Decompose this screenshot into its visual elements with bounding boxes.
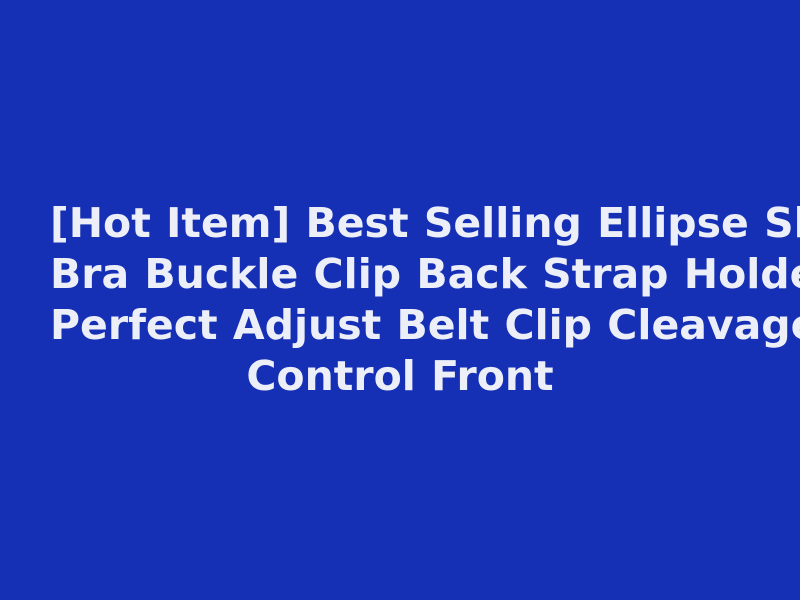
product-title-line-2: Bra Buckle Clip Back Strap Holder <box>50 249 750 300</box>
product-title-line-3: Perfect Adjust Belt Clip Cleavage <box>50 300 750 351</box>
placeholder-image-card: [Hot Item] Best Selling Ellipse Shape Br… <box>0 0 800 600</box>
product-title: [Hot Item] Best Selling Ellipse Shape Br… <box>50 198 750 402</box>
product-title-line-1: [Hot Item] Best Selling Ellipse Shape <box>50 198 750 249</box>
product-title-line-4: Control Front <box>50 351 750 402</box>
